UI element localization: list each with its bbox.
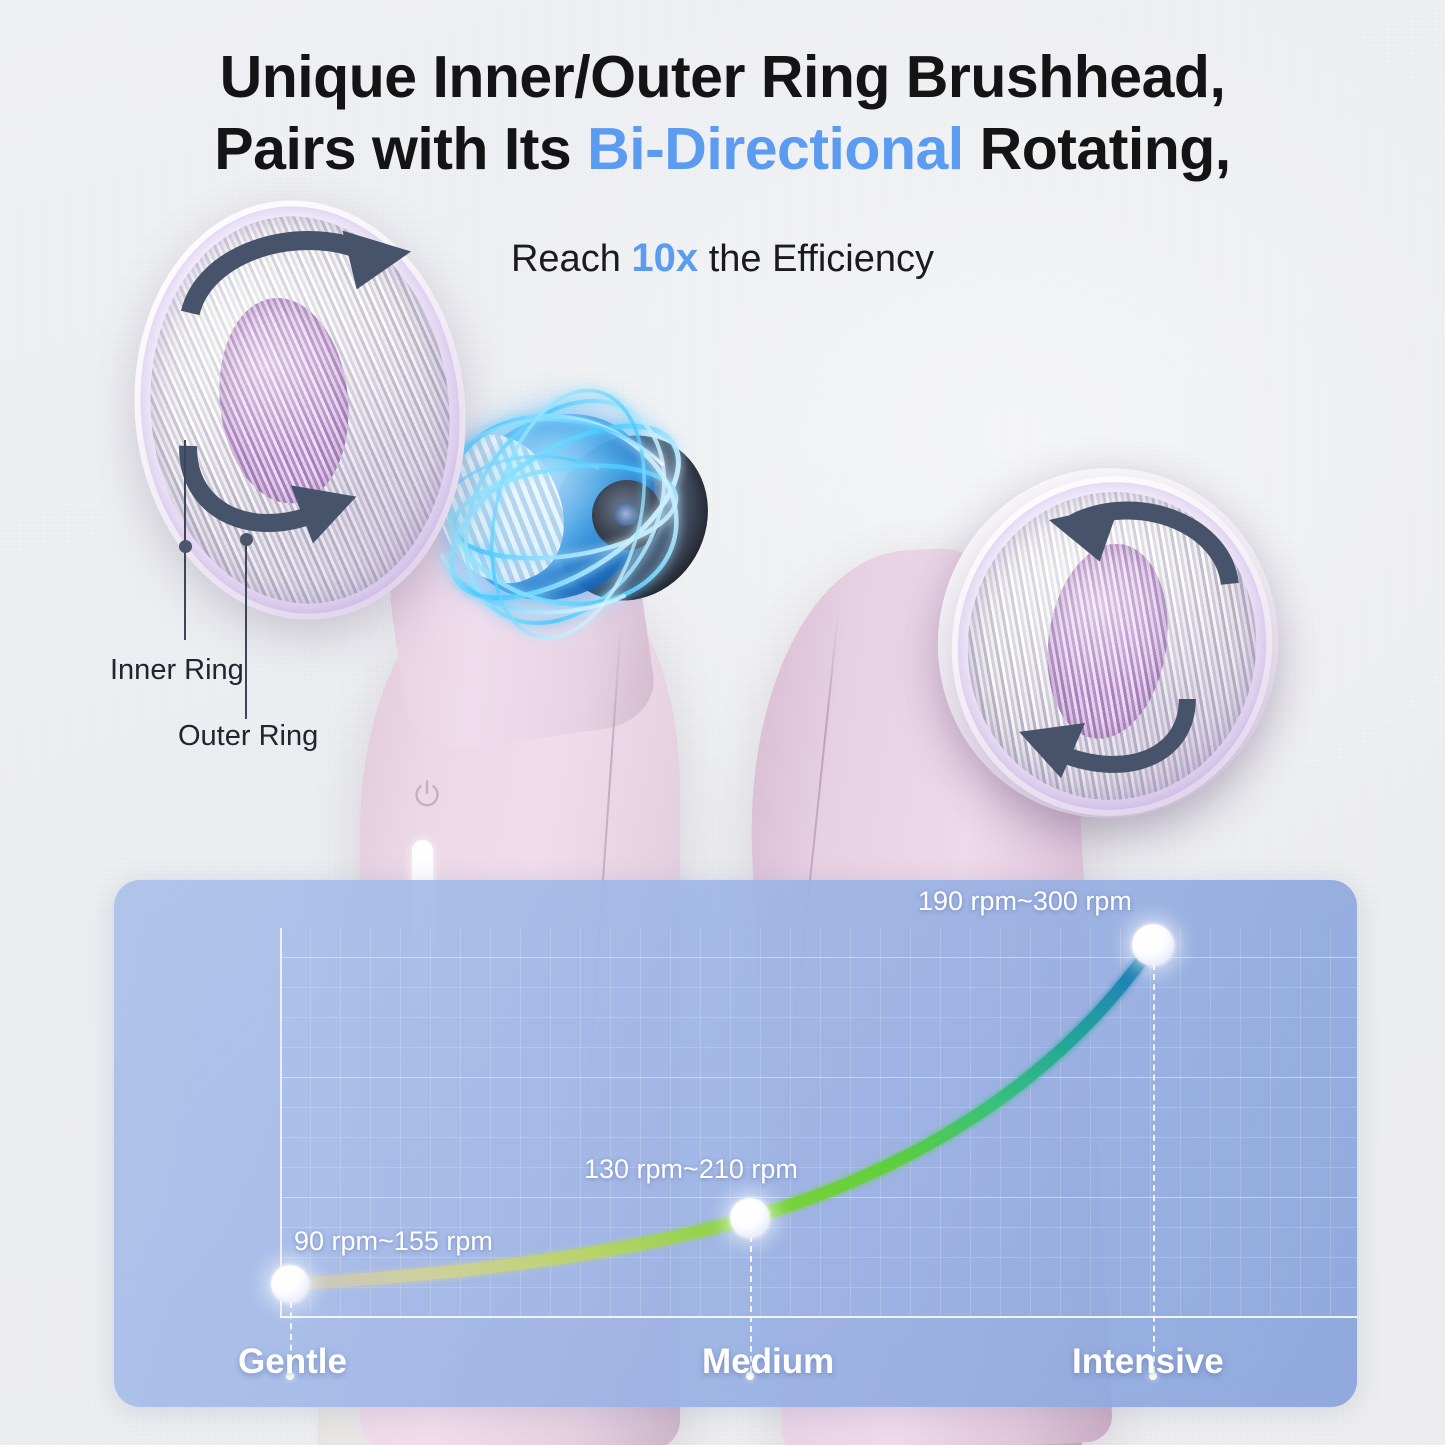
speed-chart-panel: 90 rpm~155 rpm 130 rpm~210 rpm 190 rpm~3… — [114, 880, 1357, 1407]
chart-plot-area: 90 rpm~155 rpm 130 rpm~210 rpm 190 rpm~3… — [280, 928, 1357, 1318]
drop-line-intensive — [1153, 964, 1155, 1372]
subtitle: Reach 10x the Efficiency — [0, 236, 1445, 281]
speed-curve — [280, 928, 1357, 1318]
subtitle-post: the Efficiency — [698, 238, 934, 280]
value-label-medium: 130 rpm~210 rpm — [584, 1154, 798, 1185]
data-point-medium — [730, 1198, 770, 1238]
value-label-intensive: 190 rpm~300 rpm — [918, 886, 1132, 917]
category-label-gentle: Gentle — [238, 1342, 347, 1382]
inner-ring-anchor-dot — [179, 540, 192, 553]
category-label-intensive: Intensive — [1072, 1342, 1224, 1382]
category-label-medium: Medium — [702, 1342, 834, 1382]
subtitle-pre: Reach — [511, 238, 631, 280]
callout-label-inner-ring: Inner Ring — [110, 654, 244, 687]
right-brush-head — [930, 455, 1294, 836]
subtitle-highlight-10x: 10x — [631, 236, 698, 280]
page-title: Unique Inner/Outer Ring Brushhead, Pairs… — [0, 42, 1445, 186]
data-point-intensive — [1132, 924, 1174, 966]
callout-label-outer-ring: Outer Ring — [178, 720, 318, 753]
headline-line-1: Unique Inner/Outer Ring Brushhead, — [0, 42, 1445, 114]
data-point-gentle — [271, 1265, 309, 1303]
headline-line2-pre: Pairs with Its — [214, 116, 587, 182]
outer-ring-leader-line — [245, 539, 247, 719]
power-icon — [410, 778, 444, 812]
outer-ring-anchor-dot — [240, 533, 253, 546]
headline-line2-post: Rotating, — [964, 116, 1231, 182]
headline-accent-bidirectional: Bi-Directional — [587, 116, 964, 182]
product-infographic: Inner Ring Outer Ring — [0, 0, 1445, 1445]
value-label-gentle: 90 rpm~155 rpm — [294, 1226, 493, 1257]
headline-line-2: Pairs with Its Bi-Directional Rotating, — [0, 114, 1445, 186]
